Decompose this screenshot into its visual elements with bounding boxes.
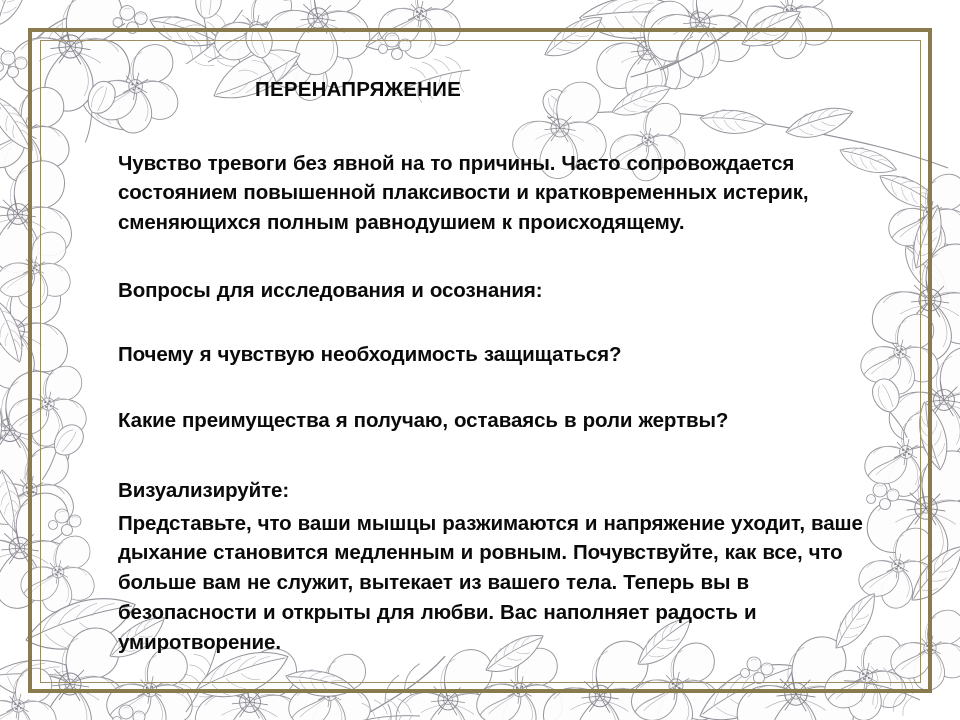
visualize-paragraph: Представьте, что ваши мышцы разжимаются … [118,509,873,658]
question-item-2: Какие преимущества я получаю, оставаясь … [118,406,878,436]
visualize-heading: Визуализируйте: [118,476,878,506]
page-title: ПЕРЕНАПРЯЖЕНИЕ [118,78,598,103]
poster-card: ПЕРЕНАПРЯЖЕНИЕ Чувство тревоги без явной… [0,0,960,720]
intro-paragraph: Чувство тревоги без явной на то причины.… [118,149,863,238]
content-area: ПЕРЕНАПРЯЖЕНИЕ Чувство тревоги без явной… [118,78,878,638]
question-item-1: Почему я чувствую необходимость защищать… [118,340,878,370]
questions-heading: Вопросы для исследования и осознания: [118,276,878,306]
